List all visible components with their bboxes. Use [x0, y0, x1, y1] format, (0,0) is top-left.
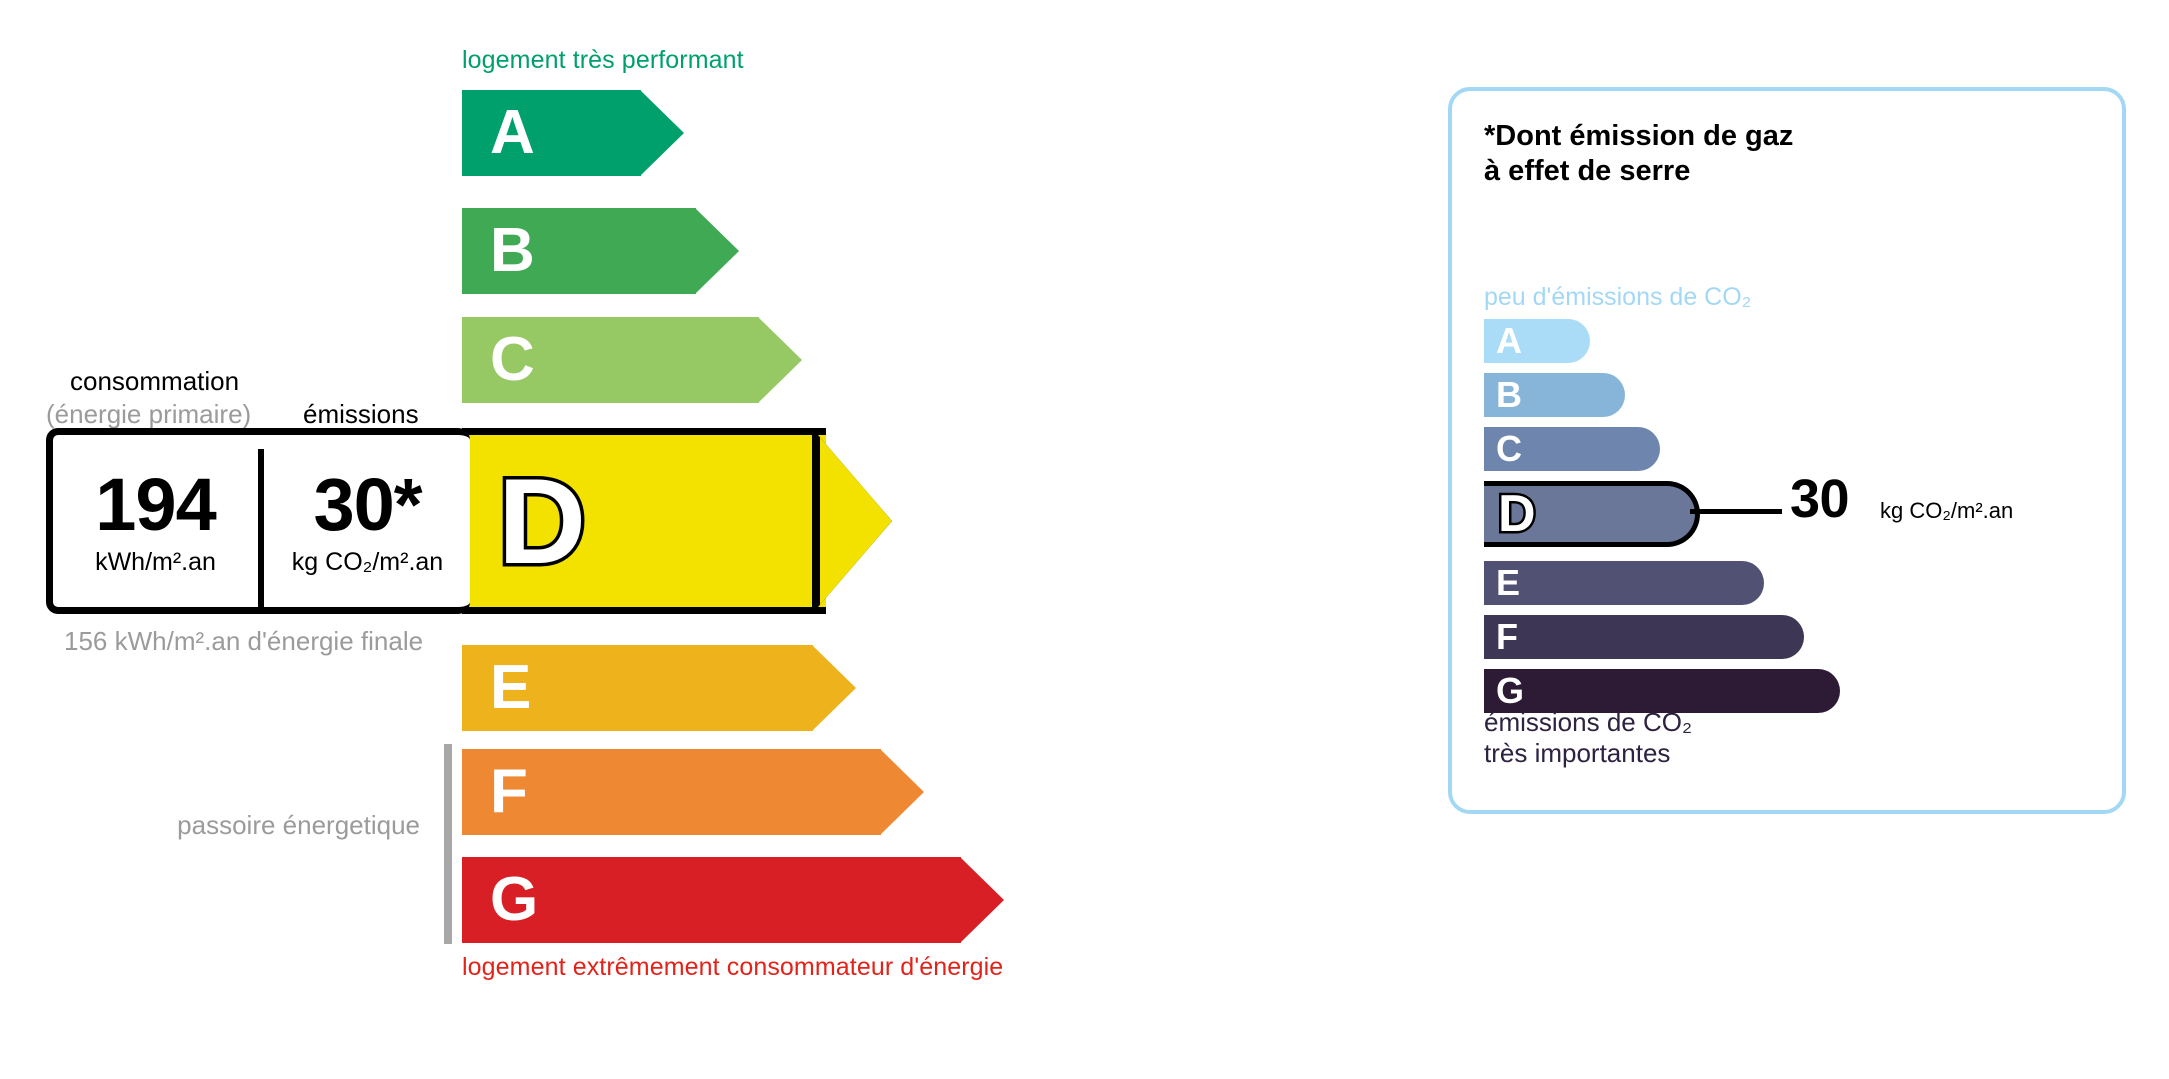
co2-class-row-b: B — [1484, 373, 1625, 417]
arrow-head-fill — [820, 435, 892, 607]
co2-top-caption: peu d'émissions de CO₂ — [1484, 283, 1751, 312]
co2-class-letter: G — [1496, 673, 1524, 709]
co2-callout-unit: kg CO₂/m².an — [1880, 500, 2013, 522]
arrow-head — [640, 90, 684, 176]
energy-class-row-f: F — [462, 749, 924, 835]
arrow-head — [758, 317, 802, 403]
passoire-label: passoire énergetique — [80, 810, 420, 841]
co2-bar — [1484, 615, 1804, 659]
co2-class-letter: A — [1496, 323, 1522, 359]
consommation-value-cell: 194 kWh/m².an — [53, 435, 258, 607]
energy-arrow-b: B — [462, 208, 739, 294]
value-divider — [258, 449, 264, 607]
value-box: 194 kWh/m².an 30* kg CO₂/m².an — [46, 428, 470, 614]
emissions-header: émissions — [303, 399, 419, 430]
co2-emissions-panel: *Dont émission de gaz à effet de serre p… — [1448, 87, 2126, 814]
energy-class-letter: B — [490, 220, 535, 282]
emissions-value: 30* — [313, 468, 421, 542]
energy-arrow-a: A — [462, 90, 684, 176]
energy-class-row-d: D — [462, 428, 892, 614]
arrow-body — [462, 90, 641, 176]
consommation-header: consommation — [70, 366, 239, 397]
energy-arrow-f: F — [462, 749, 924, 835]
energy-class-letter: F — [490, 761, 528, 823]
co2-panel-title: *Dont émission de gaz à effet de serre — [1484, 119, 1793, 189]
energy-class-row-b: B — [462, 208, 739, 294]
energy-class-letter: D — [498, 460, 586, 582]
co2-class-row-d: D — [1484, 481, 1700, 547]
co2-bar — [1484, 561, 1764, 605]
co2-callout-value: 30 — [1790, 472, 1849, 526]
co2-class-letter: C — [1496, 431, 1522, 467]
arrow-head — [812, 428, 892, 614]
energy-top-caption: logement très performant — [462, 46, 744, 75]
consommation-subheader: (énergie primaire) — [46, 399, 251, 430]
co2-class-letter: D — [1498, 488, 1536, 540]
arrow-head — [960, 857, 1004, 943]
energy-class-letter: A — [490, 102, 535, 164]
energy-class-letter: G — [490, 869, 538, 931]
emissions-unit: kg CO₂/m².an — [292, 550, 443, 575]
energy-arrow-c: C — [462, 317, 802, 403]
co2-class-letter: F — [1496, 619, 1518, 655]
co2-class-row-e: E — [1484, 561, 1764, 605]
energy-arrow-e: E — [462, 645, 856, 731]
co2-callout-line — [1690, 509, 1782, 514]
energy-class-row-e: E — [462, 645, 856, 731]
energy-bottom-caption: logement extrêmement consommateur d'éner… — [462, 953, 1003, 982]
passoire-bracket — [444, 744, 452, 944]
energy-class-row-a: A — [462, 90, 684, 176]
energy-arrow-g: G — [462, 857, 1004, 943]
co2-bottom-caption: émissions de CO₂ très importantes — [1484, 707, 1692, 768]
co2-class-row-c: C — [1484, 427, 1660, 471]
arrow-head — [880, 749, 924, 835]
arrow-head — [695, 208, 739, 294]
co2-class-letter: B — [1496, 377, 1522, 413]
energy-arrow-d: D — [462, 428, 892, 614]
co2-class-row-a: A — [1484, 319, 1590, 363]
arrow-head — [812, 645, 856, 731]
energy-class-row-g: G — [462, 857, 1004, 943]
energy-class-letter: C — [490, 329, 535, 391]
consommation-value: 194 — [95, 468, 215, 542]
co2-class-letter: E — [1496, 565, 1520, 601]
energy-consumption-panel: logement très performant ABCDEFG consomm… — [0, 0, 1400, 1079]
co2-class-row-f: F — [1484, 615, 1804, 659]
emissions-value-cell: 30* kg CO₂/m².an — [265, 435, 470, 607]
energy-class-row-c: C — [462, 317, 802, 403]
energy-class-letter: E — [490, 657, 531, 719]
final-energy-note: 156 kWh/m².an d'énergie finale — [64, 626, 423, 657]
consommation-unit: kWh/m².an — [95, 550, 216, 575]
dpe-label: logement très performant ABCDEFG consomm… — [0, 0, 2169, 1079]
